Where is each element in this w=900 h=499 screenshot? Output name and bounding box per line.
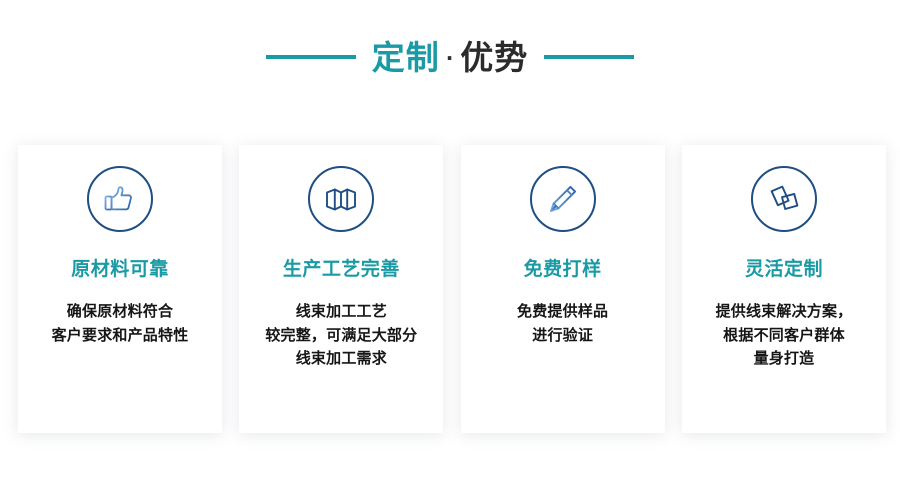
advantages-section: 定制 · 优势 <box>0 0 900 499</box>
description-line: 线束加工需求 <box>248 347 434 371</box>
advantage-card-title: 免费打样 <box>524 260 602 279</box>
description-line: 客户要求和产品特性 <box>27 324 213 348</box>
description-line: 量身打造 <box>691 347 877 371</box>
advantage-card-description: 线束加工工艺 较完整，可满足大部分 线束加工需求 <box>248 300 434 371</box>
advantage-card-title: 灵活定制 <box>745 260 823 279</box>
advantage-card-title: 原材料可靠 <box>71 260 169 279</box>
page-title-separator: · <box>440 48 461 68</box>
advantage-card[interactable]: 原材料可靠 确保原材料符合 客户要求和产品特性 <box>18 145 222 433</box>
advantage-card-title: 生产工艺完善 <box>283 260 400 279</box>
advantage-card-description: 免费提供样品 进行验证 <box>470 300 656 347</box>
thumbs-up-icon <box>87 166 153 232</box>
description-line: 较完整，可满足大部分 <box>248 324 434 348</box>
description-line: 进行验证 <box>470 324 656 348</box>
stacked-cards-icon <box>751 166 817 232</box>
description-line: 线束加工工艺 <box>248 300 434 324</box>
advantage-card-list: 原材料可靠 确保原材料符合 客户要求和产品特性 生产工艺完善 <box>18 145 886 433</box>
folded-map-icon <box>308 166 374 232</box>
advantage-card-description: 确保原材料符合 客户要求和产品特性 <box>27 300 213 347</box>
advantage-card[interactable]: 生产工艺完善 线束加工工艺 较完整，可满足大部分 线束加工需求 <box>239 145 443 433</box>
page-title-main: 优势 <box>460 41 528 74</box>
description-line: 确保原材料符合 <box>27 300 213 324</box>
page-title: 定制 · 优势 <box>372 41 529 74</box>
section-heading: 定制 · 优势 <box>0 30 900 84</box>
advantage-card-description: 提供线束解决方案， 根据不同客户群体 量身打造 <box>691 300 877 371</box>
page-title-accent: 定制 <box>372 41 440 74</box>
description-line: 根据不同客户群体 <box>691 324 877 348</box>
advantage-card[interactable]: 灵活定制 提供线束解决方案， 根据不同客户群体 量身打造 <box>682 145 886 433</box>
advantage-card[interactable]: 免费打样 免费提供样品 进行验证 <box>461 145 665 433</box>
description-line: 免费提供样品 <box>470 300 656 324</box>
heading-rule-left <box>266 55 356 59</box>
heading-rule-right <box>544 55 634 59</box>
pencil-icon <box>530 166 596 232</box>
description-line: 提供线束解决方案， <box>691 300 877 324</box>
